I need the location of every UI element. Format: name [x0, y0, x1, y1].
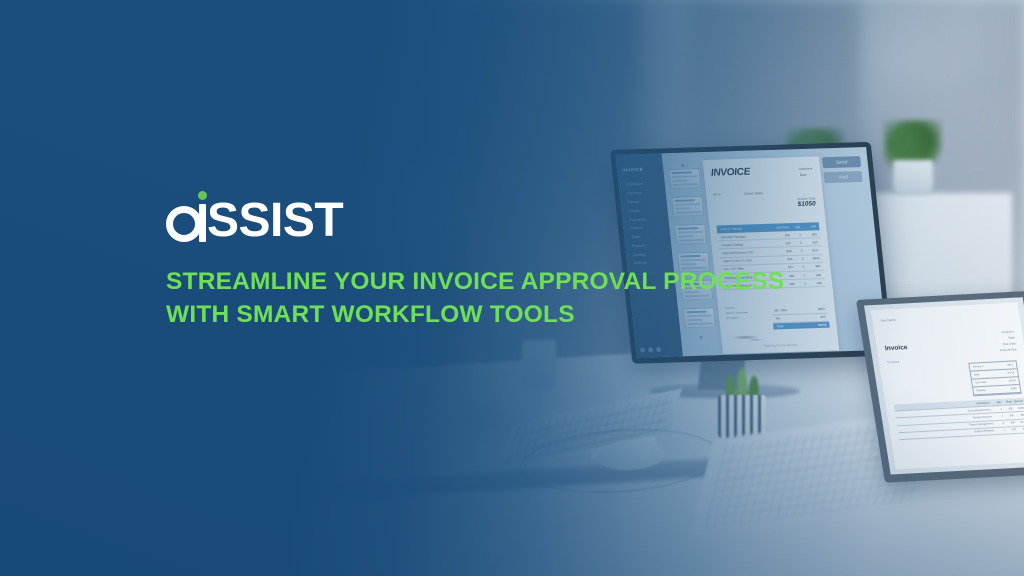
promo-banner: INVOICE Dashboard Purchase Invoice Clien…	[0, 0, 1024, 576]
headline-line-1: STREAMLINE YOUR INVOICE APPROVAL PROCESS	[166, 268, 784, 295]
logo-green-dot-icon	[198, 191, 207, 200]
headline-line-2: WITH SMART WORKFLOW TOOLS	[166, 299, 826, 332]
logo-wordmark: SSIST	[207, 201, 343, 242]
logo-letter-a-icon	[166, 200, 206, 242]
banner-content: SSIST STREAMLINE YOUR INVOICE APPROVAL P…	[166, 186, 826, 331]
assist-logo: SSIST	[166, 186, 826, 242]
page-title: STREAMLINE YOUR INVOICE APPROVAL PROCESS…	[166, 266, 826, 331]
